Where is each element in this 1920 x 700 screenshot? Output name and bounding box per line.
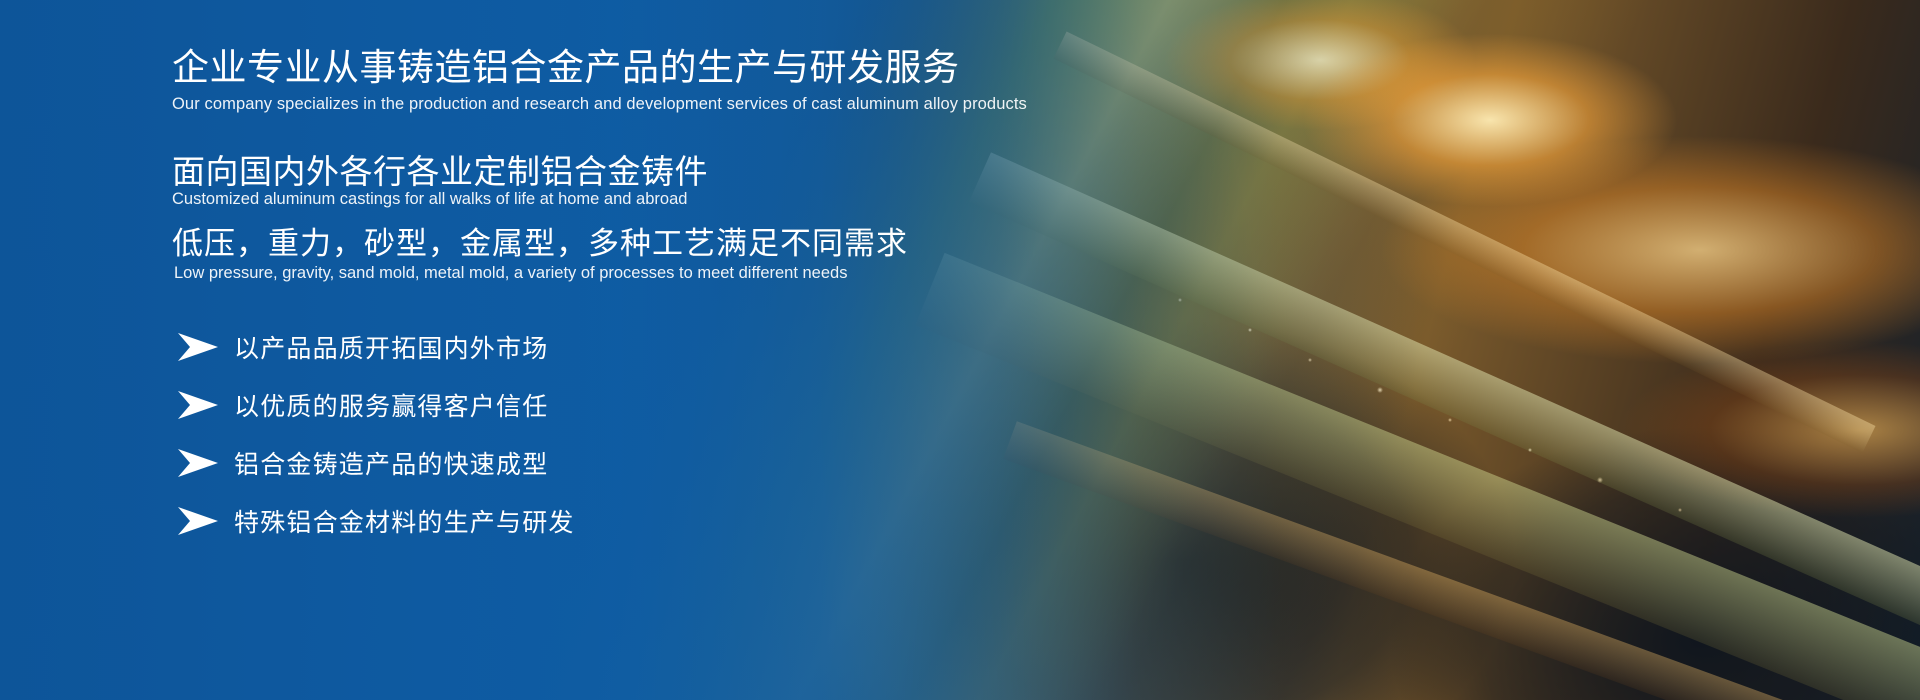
arrow-right-icon xyxy=(176,332,220,362)
list-item-label: 以产品品质开拓国内外市场 xyxy=(234,329,548,365)
headline-tertiary-en: Low pressure, gravity, sand mold, metal … xyxy=(174,264,847,283)
feature-list: 以产品品质开拓国内外市场 以优质的服务赢得客户信任 铝合金铸造产品的快速成型 特… xyxy=(176,318,575,550)
list-item: 特殊铝合金材料的生产与研发 xyxy=(176,492,575,550)
arrow-right-icon xyxy=(176,390,220,420)
list-item: 铝合金铸造产品的快速成型 xyxy=(176,434,575,492)
headline-secondary-zh: 面向国内外各行各业定制铝合金铸件 xyxy=(172,145,708,193)
headline-primary-en: Our company specializes in the productio… xyxy=(172,95,1027,114)
list-item-label: 特殊铝合金材料的生产与研发 xyxy=(234,503,575,539)
headline-tertiary-zh: 低压，重力，砂型，金属型，多种工艺满足不同需求 xyxy=(172,218,908,263)
list-item-label: 铝合金铸造产品的快速成型 xyxy=(234,445,548,481)
list-item: 以产品品质开拓国内外市场 xyxy=(176,318,575,376)
headline-primary-zh: 企业专业从事铸造铝合金产品的生产与研发服务 xyxy=(172,48,960,89)
arrow-right-icon xyxy=(176,448,220,478)
headline-secondary-en: Customized aluminum castings for all wal… xyxy=(172,190,687,209)
arrow-right-icon xyxy=(176,506,220,536)
banner-content: 企业专业从事铸造铝合金产品的生产与研发服务 Our company specia… xyxy=(172,0,1272,700)
hero-banner: 企业专业从事铸造铝合金产品的生产与研发服务 Our company specia… xyxy=(0,0,1920,700)
list-item: 以优质的服务赢得客户信任 xyxy=(176,376,575,434)
list-item-label: 以优质的服务赢得客户信任 xyxy=(234,387,548,423)
